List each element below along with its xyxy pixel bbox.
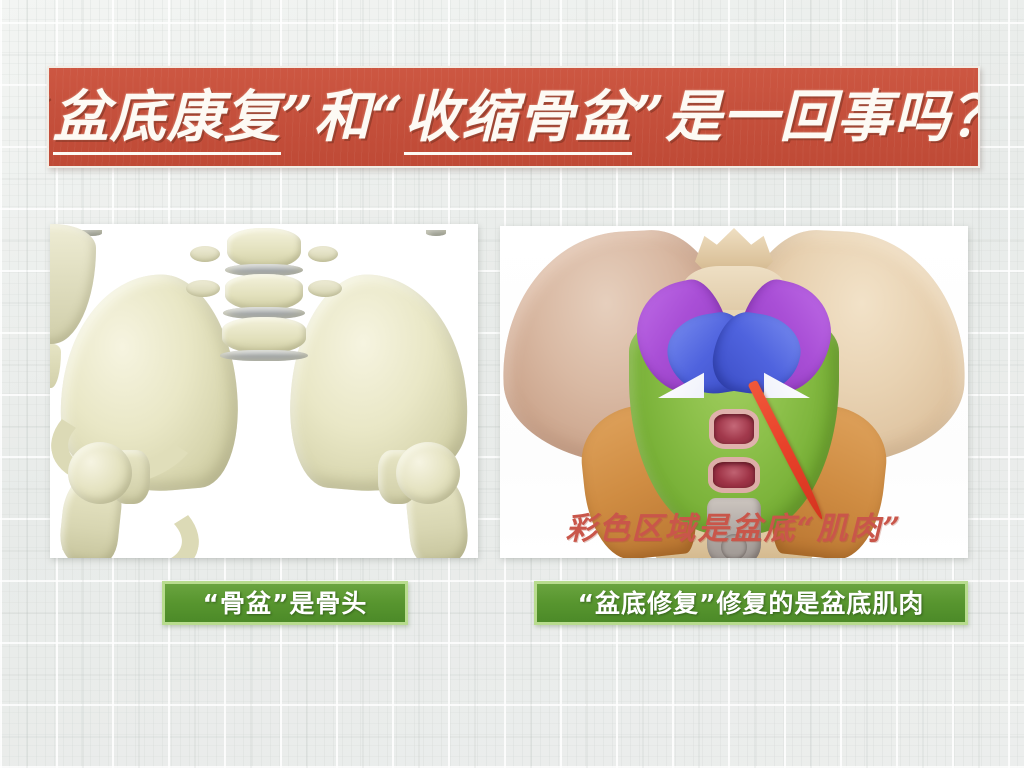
handwritten-annotation: 彩色区域是盆底“肌肉” [500,503,968,548]
coccyx-bone [50,344,61,388]
page-title: “盆底康复”和“收缩骨盆”是一回事吗？ [47,89,980,145]
title-conjunction: ”和“ [281,84,404,150]
pelvis-bone-image [50,224,478,558]
right-femoral-head [396,442,460,504]
caption-label-right: “盆底修复”修复的是盆底肌肉 [578,591,925,616]
title-question-tail: ”是一回事吗？ [632,84,980,150]
pelvic-floor-illustration: 彩色区域是盆底“肌肉” [500,226,968,558]
caption-bar-right: “盆底修复”修复的是盆底肌肉 [534,581,968,625]
lumbar-vertebra-l3 [227,228,301,268]
urethral-opening [714,414,754,444]
title-term-contract-pelvis: 收缩骨盆 [404,84,632,155]
lumbar-vertebra-l4 [225,274,303,310]
title-term-pelvic-floor-rehab: 盆底康复 [53,84,281,155]
transverse-process-right-upper [308,246,338,262]
caption-bar-left: “骨盆”是骨头 [162,581,408,625]
vaginal-opening [713,462,755,488]
transverse-process-left-upper [190,246,220,262]
pelvis-bone-illustration [50,224,478,558]
transverse-process-right-mid [308,280,342,297]
pelvic-floor-muscle-image: 彩色区域是盆底“肌肉” [500,226,968,558]
slide-title-banner: “盆底康复”和“收缩骨盆”是一回事吗？ [47,66,980,168]
title-quote-open: “ [47,84,53,150]
transverse-process-left-mid [186,280,220,297]
lumbar-vertebra-l5 [222,317,306,353]
caption-label-left: “骨盆”是骨头 [203,591,368,616]
image-tick-right-icon [426,230,446,236]
slide-canvas: “盆底康复”和“收缩骨盆”是一回事吗？ [0,0,1024,768]
intervertebral-disc-3 [220,350,308,361]
left-femoral-head [68,442,132,504]
